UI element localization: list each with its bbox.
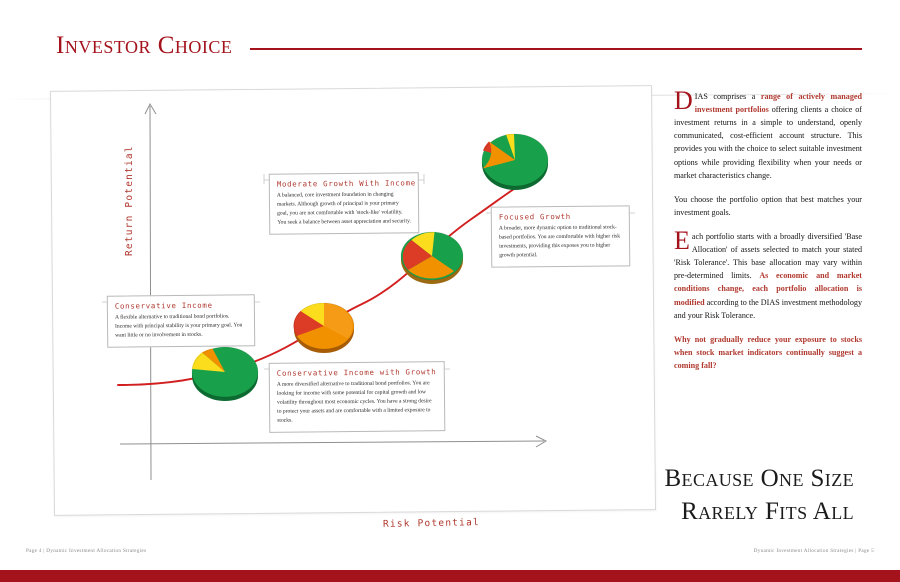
callout-body: A flexible alternative to traditional bo…: [115, 312, 247, 340]
footer-right: Dynamic Investment Allocation Strategies…: [754, 548, 874, 554]
page-title: Investor Choice: [56, 32, 232, 60]
p1-rest: offering clients a choice of investment …: [674, 105, 862, 180]
callout-body: A balanced, core investment foundation i…: [277, 190, 411, 227]
pie-focused-growth[interactable]: [473, 122, 557, 196]
callout-heading: Moderate Growth With Income: [277, 178, 411, 188]
paragraph-1: DIAS comprises a range of actively manag…: [674, 90, 862, 182]
p1-lead: IAS comprises a: [695, 92, 761, 101]
footer-bar: [0, 570, 900, 582]
dropcap-d: D: [674, 90, 695, 111]
callout-conservative-income: Conservative Income A flexible alternati…: [107, 294, 255, 348]
risk-return-chart: Return Potential Risk Potential: [52, 88, 654, 513]
dropcap-e: E: [674, 230, 692, 251]
tagline: Because One Size Rarely Fits All: [434, 462, 854, 528]
title-rule: [250, 48, 862, 50]
callout-focused-growth: Focused Growth A broader, more dynamic o…: [491, 205, 631, 268]
tagline-line-2: Rarely Fits All: [434, 495, 854, 528]
footer-left: Page 4 | Dynamic Investment Allocation S…: [26, 548, 146, 554]
callout-conservative-income-with-growth: Conservative Income with Growth A more d…: [269, 361, 446, 433]
callout-body: A broader, more dynamic option to tradit…: [499, 223, 622, 260]
sidebar-copy: DIAS comprises a range of actively manag…: [674, 90, 862, 383]
callout-moderate-growth-with-income: Moderate Growth With Income A balanced, …: [269, 172, 420, 235]
axis-label-y: Return Potential: [124, 145, 135, 256]
pie-conservative-income-with-growth[interactable]: [284, 290, 364, 360]
callout-heading: Conservative Income with Growth: [277, 367, 437, 378]
callout-heading: Conservative Income: [115, 300, 247, 310]
paragraph-2: You choose the portfolio option that bes…: [674, 193, 862, 219]
tagline-line-1: Because One Size: [434, 462, 854, 495]
callout-body: A more diversified alternative to tradit…: [277, 379, 437, 426]
page-root: Investor Choice: [0, 0, 900, 582]
callout-heading: Focused Growth: [499, 211, 622, 221]
chart-inner: Return Potential Risk Potential: [52, 88, 654, 513]
paragraph-3: Each portfolio starts with a broadly div…: [674, 230, 862, 322]
paragraph-4-callout: Why not gradually reduce your exposure t…: [674, 333, 862, 372]
